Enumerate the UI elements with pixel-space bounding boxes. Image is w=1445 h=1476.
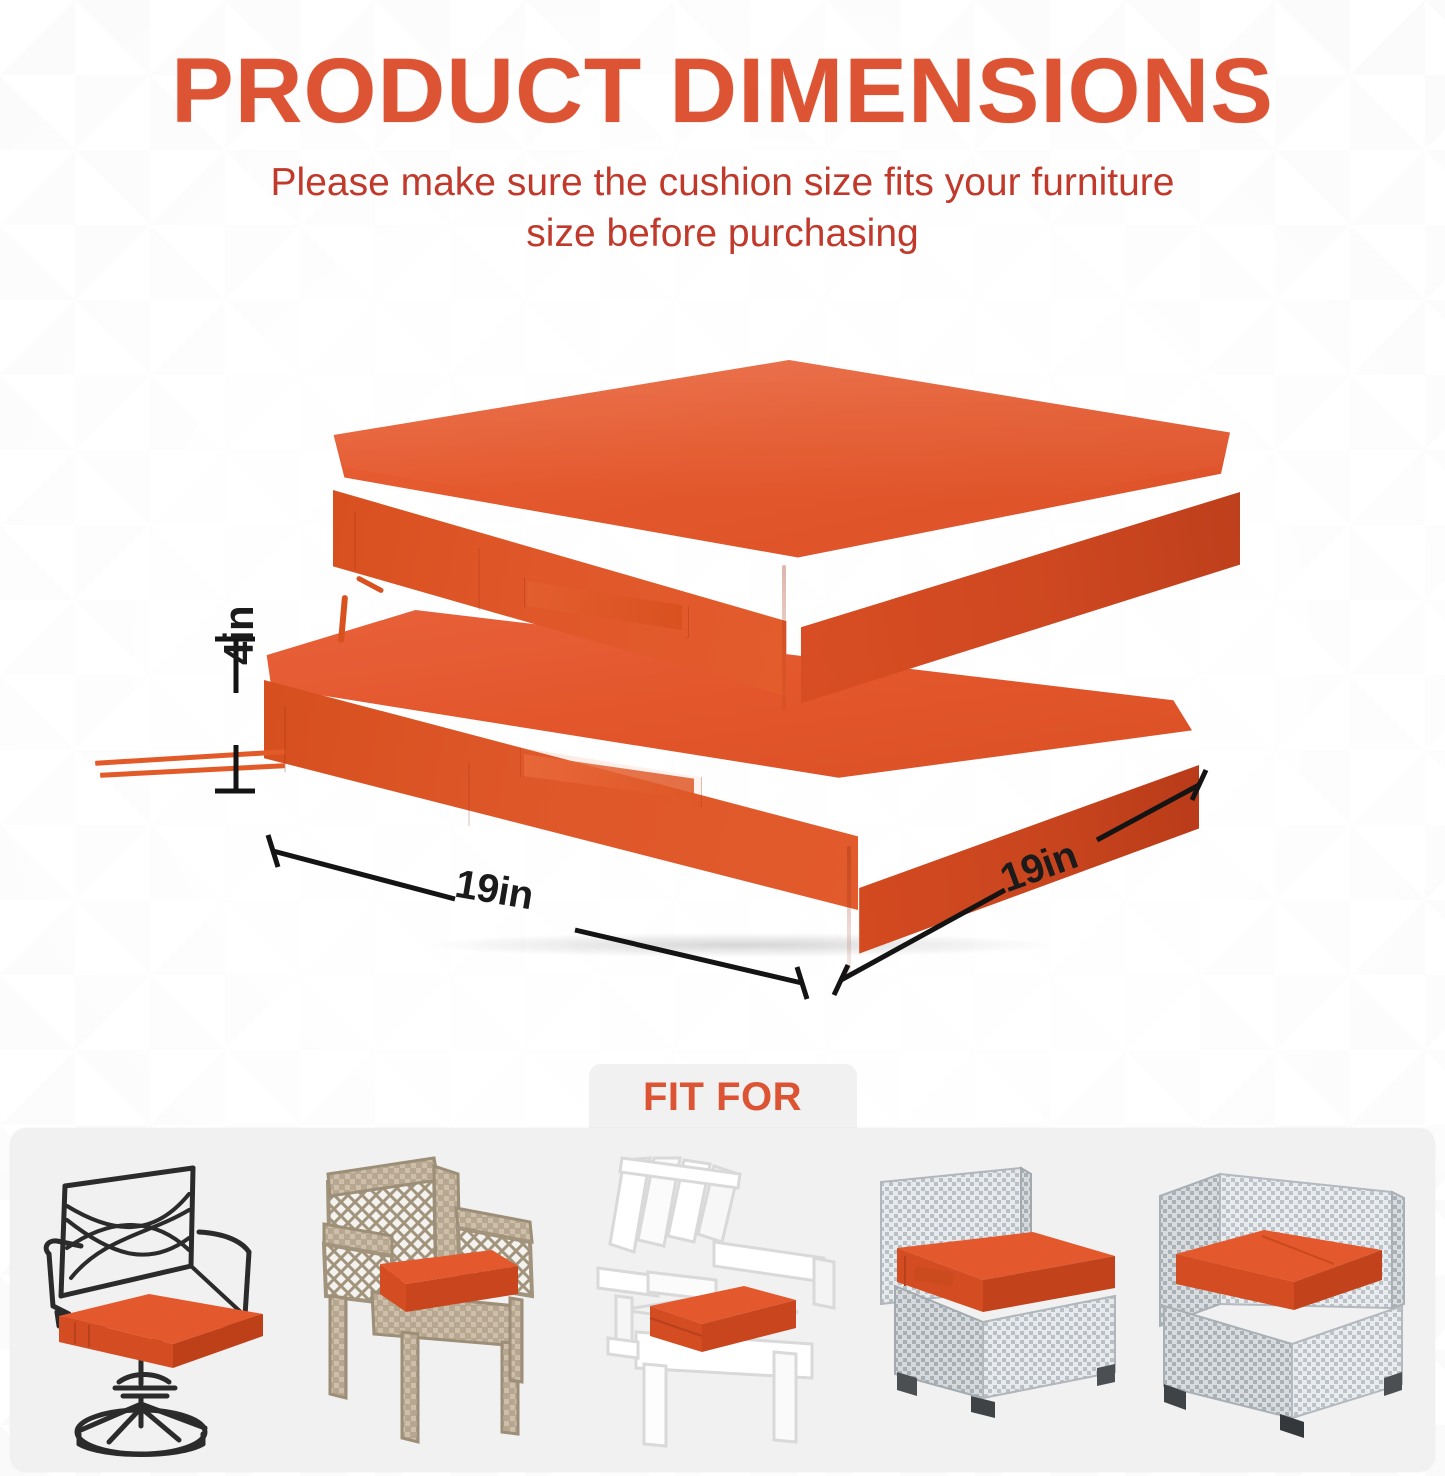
furniture-item-wicker-dining-armchair: [306, 1146, 574, 1464]
page-title: PRODUCT DIMENSIONS: [0, 0, 1445, 136]
fit-for-tab: FIT FOR: [589, 1064, 857, 1130]
adirondack-chair-icon: [588, 1146, 856, 1464]
furniture-item-adirondack-chair: [588, 1146, 856, 1464]
wicker-dining-armchair-icon: [306, 1146, 574, 1464]
cushion-bottom-seam-mid: [468, 761, 470, 826]
armless-sectional-middle-icon: [871, 1146, 1139, 1464]
page-subtitle: Please make sure the cushion size fits y…: [263, 136, 1183, 259]
swivel-dining-chair-icon: [23, 1146, 291, 1464]
product-image-stage: [0, 300, 1445, 1060]
cushion-top-seam-left: [354, 511, 356, 570]
cushion-bottom-right-face: [854, 765, 1199, 970]
tie-strap-upper: [95, 749, 285, 766]
furniture-item-armless-sectional-middle: [871, 1146, 1139, 1464]
tie-strap-lower: [100, 763, 285, 778]
cushion-top: [330, 360, 1250, 730]
cushion-top-front-corner-seam: [782, 565, 786, 710]
fit-for-tab-label: FIT FOR: [643, 1075, 802, 1120]
furniture-item-swivel-dining-chair: [23, 1146, 291, 1464]
corner-sectional-chair-icon: [1154, 1146, 1422, 1464]
furniture-item-corner-sectional-chair: [1154, 1146, 1422, 1464]
cushion-bottom-front-corner-seam: [847, 846, 851, 976]
cushion-top-seam-mid: [478, 547, 480, 610]
fit-for-item-list: [10, 1128, 1435, 1472]
fit-for-section: FIT FOR: [0, 1064, 1445, 1476]
header: PRODUCT DIMENSIONS Please make sure the …: [0, 0, 1445, 260]
